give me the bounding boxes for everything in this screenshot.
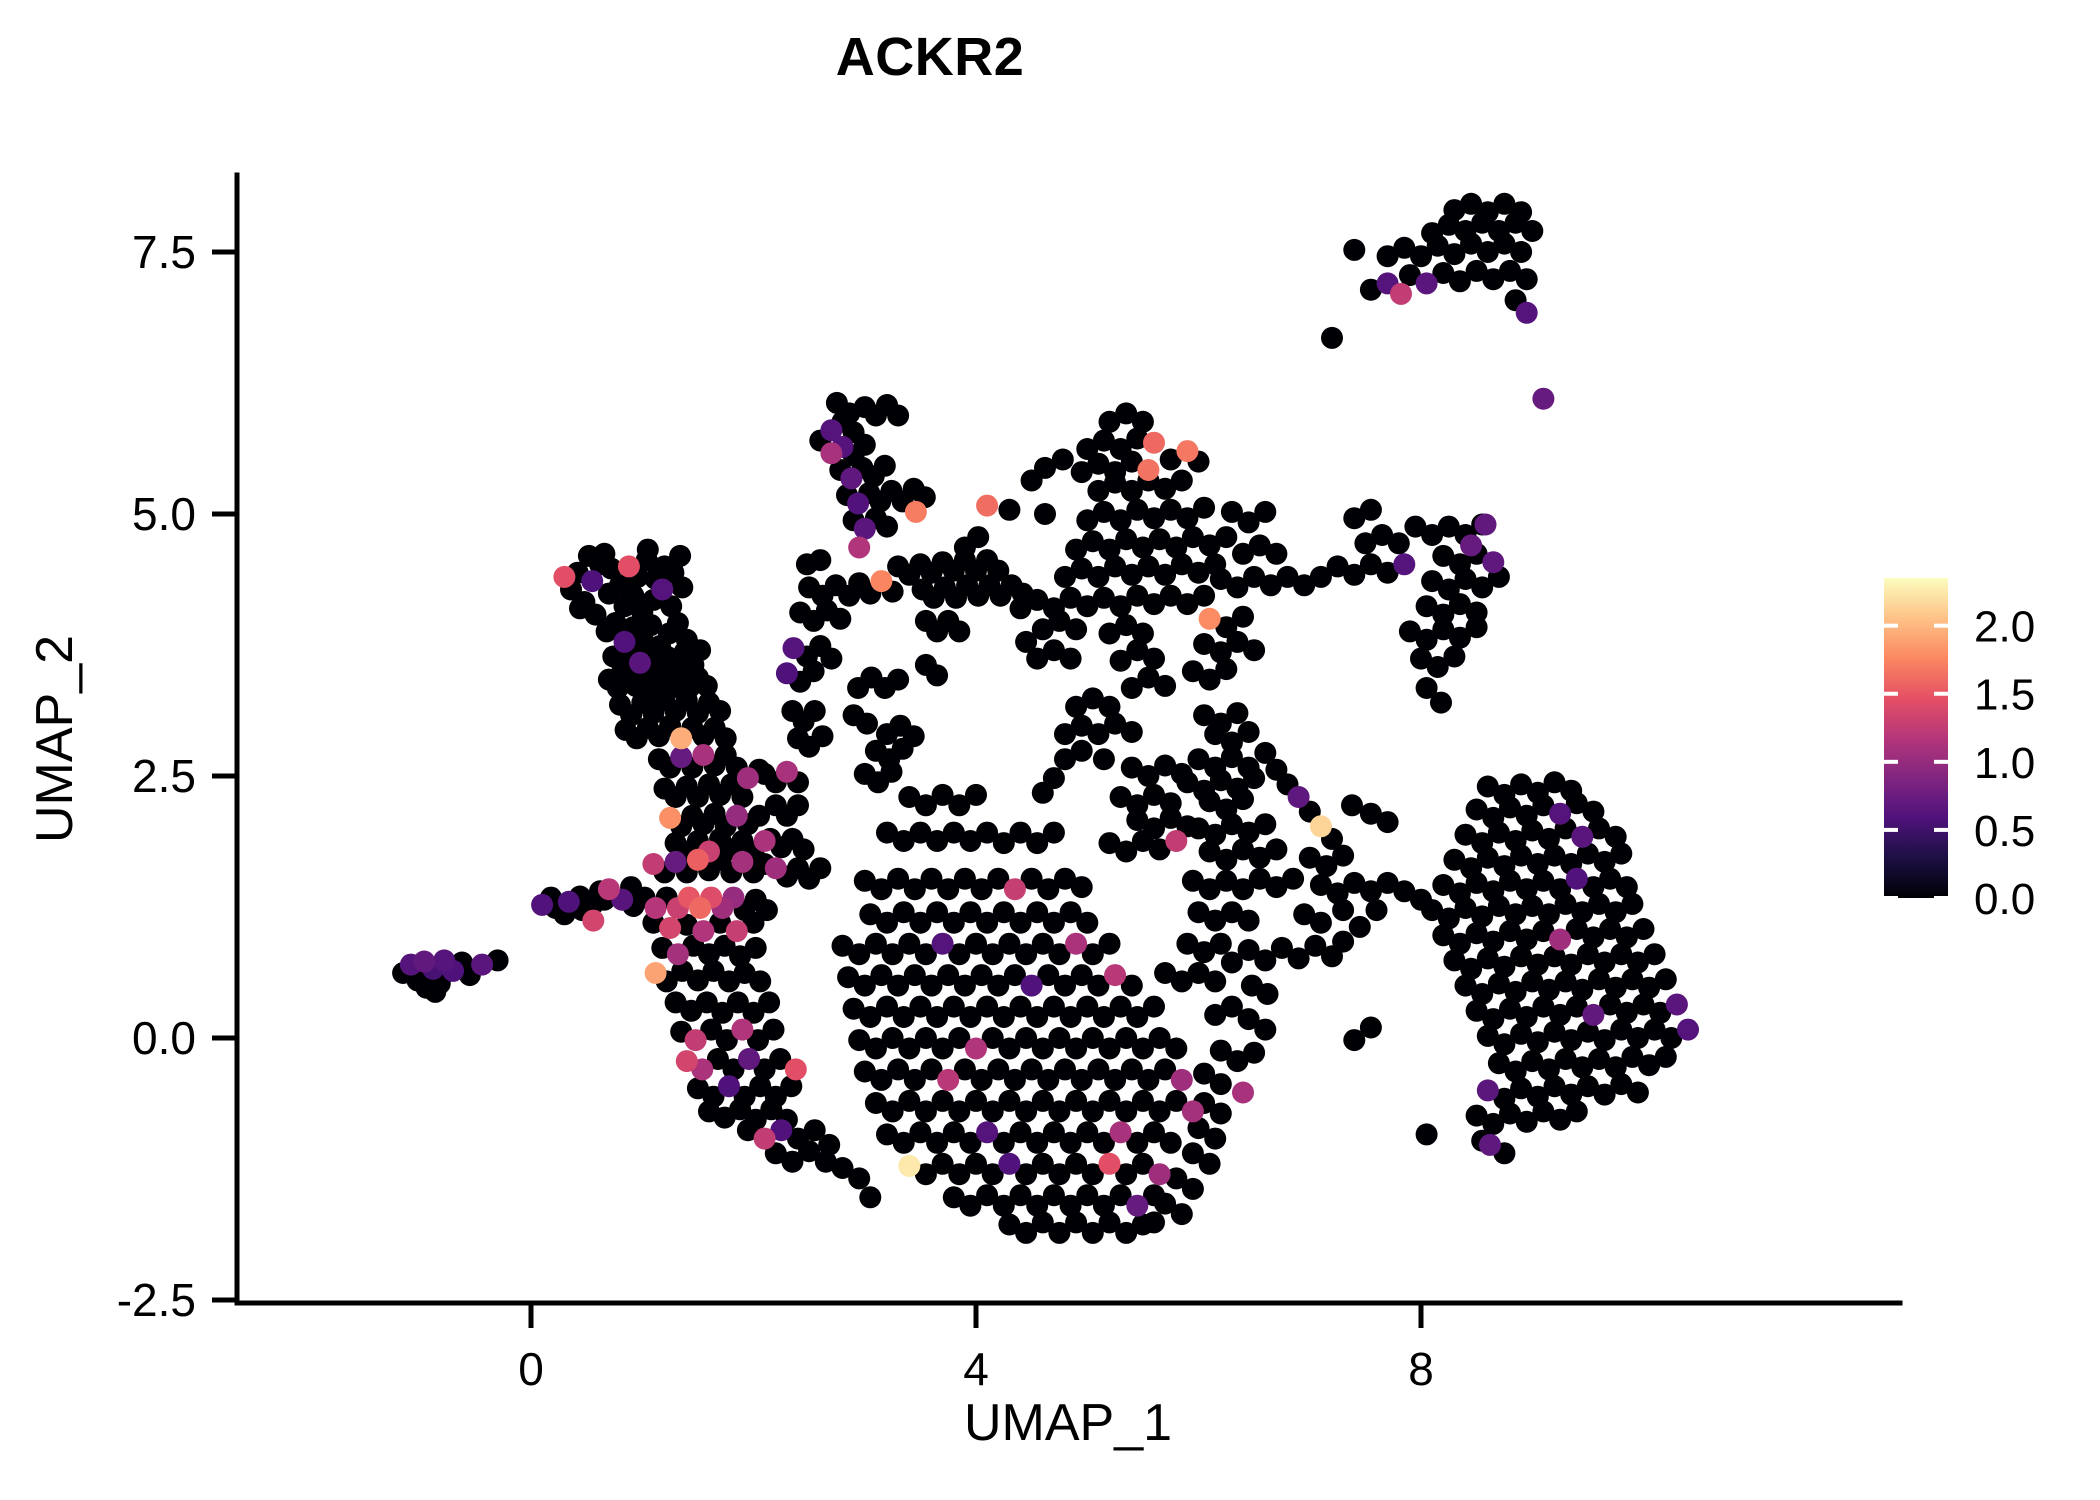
scatter-point [1121,721,1143,743]
scatter-point [1132,411,1154,433]
scatter-point [937,1069,959,1091]
scatter-point [1137,459,1159,481]
scatter-point [1243,1042,1265,1064]
scatter-point [1416,272,1438,294]
scatter-point [859,1186,881,1208]
scatter-point [785,1058,807,1080]
scatter-point [804,1119,826,1141]
scatter-point [1677,1019,1699,1041]
scatter-point [1627,1082,1649,1104]
scatter-point [796,553,818,575]
scatter-point [738,1048,760,1070]
scatter-point [870,570,892,592]
scatter-point [582,910,604,932]
scatter-point [1232,1082,1254,1104]
scatter-point [840,467,862,489]
scatter-point [645,962,667,984]
scatter-point [1430,692,1452,714]
scatter-point [758,991,780,1013]
scatter-point [1232,606,1254,628]
y-tick-label: 2.5 [132,750,196,802]
scatter-point [1104,964,1126,986]
scatter-point [829,608,851,630]
scatter-point [1060,648,1082,670]
scatter-point [749,970,771,992]
scatter-point [1132,623,1154,645]
umap-feature-plot: ACKR2 048-2.50.02.55.07.5 [0,0,2100,1500]
scatter-point [1043,822,1065,844]
scatter-point [471,954,493,976]
scatter-point [754,830,776,852]
scatter-point [965,1038,987,1060]
scatter-point [1226,702,1248,724]
scatter-point [737,767,759,789]
legend-colorbar: 2.01.51.00.50.0 [1884,578,2035,924]
scatter-point [1238,910,1260,932]
scatter-point [689,639,711,661]
scatter-point [998,1153,1020,1175]
scatter-point [1165,830,1187,852]
scatter-point [1516,268,1538,290]
scatter-point [1054,748,1076,770]
scatter-points-layer [392,193,1699,1244]
scatter-point [847,677,869,699]
scatter-point [1065,933,1087,955]
scatter-point [1644,943,1666,965]
scatter-point [433,949,455,971]
scatter-point [1310,912,1332,934]
scatter-point [892,738,914,760]
scatter-point [776,761,798,783]
scatter-point [1288,786,1310,808]
scatter-point [1393,553,1415,575]
scatter-point [665,851,687,873]
scatter-point [413,951,435,973]
scatter-point [531,894,553,916]
scatter-point [689,897,711,919]
scatter-point [776,662,798,684]
scatter-point [1182,1100,1204,1122]
scatter-point [1582,1004,1604,1026]
colorbar-labels: 2.01.51.00.50.0 [1974,603,2035,924]
scatter-point [1143,648,1165,670]
scatter-point [967,526,989,548]
scatter-point [754,1128,776,1150]
scatter-point [809,857,831,879]
scatter-point [1021,470,1043,492]
scatter-point [1332,899,1354,921]
scatter-point [731,851,753,873]
scatter-point [1165,1038,1187,1060]
scatter-point [1282,868,1304,890]
scatter-point [1633,918,1655,940]
scatter-point [667,943,689,965]
scatter-point [1171,1069,1193,1091]
scatter-point [1265,543,1287,565]
scatter-point [1341,794,1363,816]
scatter-point [926,664,948,686]
scatter-point [905,501,927,523]
scatter-point [1099,933,1121,955]
scatter-point [598,878,620,900]
scatter-point [1199,1153,1221,1175]
scatter-point [1257,983,1279,1005]
scatter-point [1193,497,1215,519]
y-tick-label: 7.5 [132,226,196,278]
scatter-point [874,455,896,477]
scatter-point [1160,1132,1182,1154]
scatter-point [726,920,748,942]
scatter-point [793,838,815,860]
colorbar-tick-label: 1.5 [1974,671,2035,720]
scatter-point [765,857,787,879]
scatter-point [1360,1017,1382,1039]
scatter-point [1477,1079,1499,1101]
scatter-point [671,576,693,598]
scatter-point [685,1029,707,1051]
scatter-point [553,566,575,588]
scatter-point [1254,501,1276,523]
scatter-point [731,1019,753,1041]
scatter-point [1466,616,1488,638]
y-tick-label: -2.5 [117,1274,196,1326]
scatter-point [659,807,681,829]
scatter-point [1210,1073,1232,1095]
scatter-point [1199,608,1221,630]
y-axis-title: UMAP_2 [26,635,84,843]
scatter-point [1532,388,1554,410]
scatter-point [669,545,691,567]
scatter-point [965,784,987,806]
scatter-point [787,794,809,816]
scatter-point [1171,470,1193,492]
scatter-point [976,495,998,517]
scatter-point [637,539,659,561]
scatter-point [651,579,673,601]
x-axis-title: UMAP_1 [964,1394,1172,1452]
scatter-point [1510,241,1532,263]
scatter-point [642,853,664,875]
scatter-point [812,725,834,747]
scatter-point [1343,239,1365,261]
scatter-point [1182,1178,1204,1200]
scatter-point [581,570,603,592]
scatter-point [763,1019,785,1041]
scatter-point [718,1075,740,1097]
scatter-point [1034,503,1056,525]
scatter-point [1549,929,1571,951]
scatter-point [1238,757,1260,779]
scatter-point [881,761,903,783]
scatter-point [998,499,1020,521]
scatter-point [1143,1211,1165,1233]
scatter-point [726,805,748,827]
scatter-point [1443,646,1465,668]
scatter-point [692,920,714,942]
scatter-point [932,933,954,955]
scatter-point [1360,803,1382,825]
scatter-point [1238,721,1260,743]
x-tick-label: 4 [963,1343,989,1395]
scatter-point [847,493,869,515]
scatter-point [1099,696,1121,718]
scatter-point [1366,899,1388,921]
scatter-point [645,897,667,919]
scatter-point [1215,526,1237,548]
scatter-point [1460,534,1482,556]
scatter-point [1332,845,1354,867]
y-tick-label: 0.0 [132,1012,196,1064]
scatter-point [854,518,876,540]
scatter-point [1510,201,1532,223]
scatter-point [826,392,848,414]
scatter-point [614,631,636,653]
scatter-point [876,516,898,538]
scatter-point [1160,792,1182,814]
scatter-point [1065,618,1087,640]
scatter-point [948,620,970,642]
scatter-point [692,744,714,766]
x-tick-label: 0 [518,1343,544,1395]
y-tick-label: 5.0 [132,488,196,540]
scatter-point [1479,1134,1501,1156]
scatter-point [1265,838,1287,860]
scatter-point [670,727,692,749]
scatter-point [1243,639,1265,661]
scatter-point [676,1050,698,1072]
scatter-point [1621,893,1643,915]
scatter-point [898,1155,920,1177]
scatter-point [1566,1100,1588,1122]
scatter-point [415,977,437,999]
scatter-point [659,917,681,939]
scatter-point [1004,878,1026,900]
scatter-point [1076,912,1098,934]
scatter-point [1254,1019,1276,1041]
scatter-point [1204,1004,1226,1026]
scatter-point [1666,994,1688,1016]
scatter-point [1149,1163,1171,1185]
scatter-point [1093,748,1115,770]
scatter-point [1210,933,1232,955]
scatter-point [1126,1195,1148,1217]
scatter-point [1610,843,1632,865]
scatter-point [854,434,876,456]
scatter-point [1655,968,1677,990]
scatter-point [1154,675,1176,697]
scatter-point [832,1157,854,1179]
scatter-point [1221,952,1243,974]
scatter-point [1204,970,1226,992]
colorbar-tick-label: 2.0 [1974,603,2035,652]
scatter-point [1390,283,1412,305]
scatter-point [1171,763,1193,785]
scatter-point [1655,1046,1677,1068]
scatter-point [558,891,580,913]
scatter-point [618,555,640,577]
scatter-point [820,648,842,670]
scatter-point [1099,1153,1121,1175]
scatter-point [1171,1203,1193,1225]
scatter-point [1549,803,1571,825]
scatter-point [976,1121,998,1143]
scatter-point [887,405,909,427]
scatter-point [745,937,767,959]
scatter-point [1032,782,1054,804]
scatter-point [1215,658,1237,680]
colorbar-tick-label: 0.0 [1974,875,2035,924]
scatter-point [1416,1123,1438,1145]
scatter-chart: 048-2.50.02.55.07.5 2.01.51.00.50.0 [0,0,2100,1500]
scatter-point [1475,514,1497,536]
scatter-point [804,700,826,722]
scatter-point [1388,532,1410,554]
scatter-point [687,849,709,871]
scatter-point [1349,916,1371,938]
scatter-point [1321,327,1343,349]
scatter-point [820,442,842,464]
scatter-point [1204,1128,1226,1150]
scatter-point [856,713,878,735]
scatter-point [783,637,805,659]
scatter-point [1310,815,1332,837]
scatter-point [1521,220,1543,242]
colorbar-tick-label: 0.5 [1974,807,2035,856]
scatter-point [1410,889,1432,911]
scatter-point [1021,975,1043,997]
scatter-point [1210,1103,1232,1125]
scatter-point [1143,996,1165,1018]
colorbar-tick-label: 1.0 [1974,739,2035,788]
scatter-point [1193,585,1215,607]
scatter-point [1176,440,1198,462]
scatter-point [848,537,870,559]
scatter-point [670,746,692,768]
x-tick-label: 8 [1408,1343,1434,1395]
scatter-point [1566,868,1588,890]
scatter-point [629,652,651,674]
scatter-point [1110,1121,1132,1143]
scatter-point [1254,813,1276,835]
scatter-point [1143,432,1165,454]
scatter-point [1360,499,1382,521]
scatter-point [1071,876,1093,898]
scatter-point [731,786,753,808]
scatter-point [1571,826,1593,848]
scatter-point [1482,551,1504,573]
scatter-point [1516,302,1538,324]
